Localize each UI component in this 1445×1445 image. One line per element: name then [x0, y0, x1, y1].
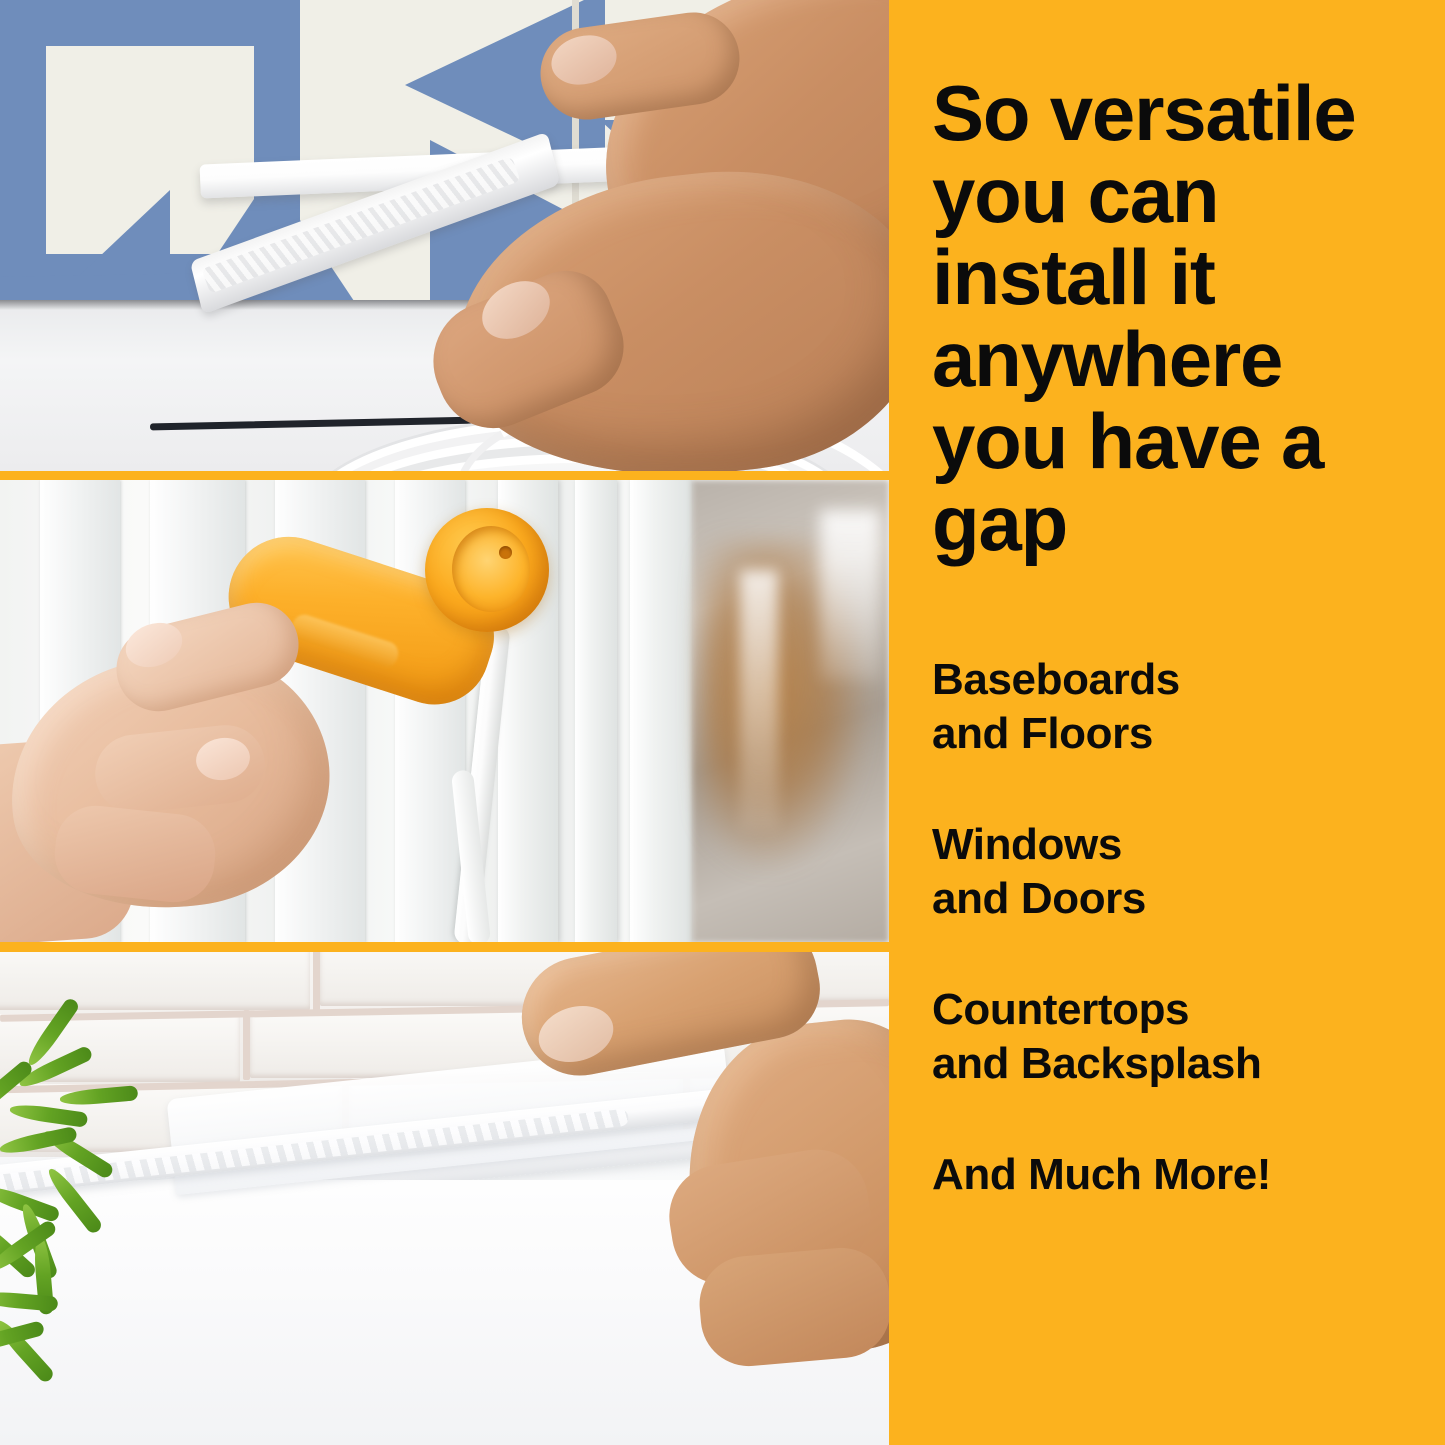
brick-grout-line [313, 952, 320, 1012]
applicator-tool-vent-hole [499, 546, 512, 559]
green-plant-lower [0, 1252, 130, 1432]
photo-window-frame-install [0, 480, 889, 943]
photo-column [0, 0, 889, 1445]
text-column: So versatile you can install it anywhere… [889, 0, 1445, 1445]
brick-grout-line [243, 1010, 250, 1080]
photo-countertop-backsplash-install [0, 952, 889, 1445]
plant-leaf [9, 1102, 88, 1128]
panel-divider [0, 471, 889, 480]
hand-knuckle [696, 1244, 889, 1370]
headline: So versatile you can install it anywhere… [932, 72, 1432, 564]
plant-leaf [59, 1085, 138, 1107]
brick [0, 952, 310, 1010]
applicator-tool-nozzle [452, 526, 530, 612]
use-case-list: Baseboards and Floors Windows and Doors … [932, 653, 1432, 1202]
window-frame-rail [575, 480, 617, 943]
use-case-item: Baseboards and Floors [932, 653, 1432, 761]
green-plant [0, 1047, 200, 1287]
use-case-item: Windows and Doors [932, 818, 1432, 926]
use-case-item: And Much More! [932, 1148, 1432, 1202]
photo-tile-backsplash-install [0, 0, 889, 472]
product-feature-card: So versatile you can install it anywhere… [0, 0, 1445, 1445]
plant-leaf [0, 1290, 58, 1312]
panel-divider [0, 942, 889, 951]
use-case-item: Countertops and Backsplash [932, 983, 1432, 1091]
window-glass-highlight [820, 510, 880, 680]
window-frame-rail [630, 480, 692, 943]
window-glass-highlight [740, 570, 778, 830]
